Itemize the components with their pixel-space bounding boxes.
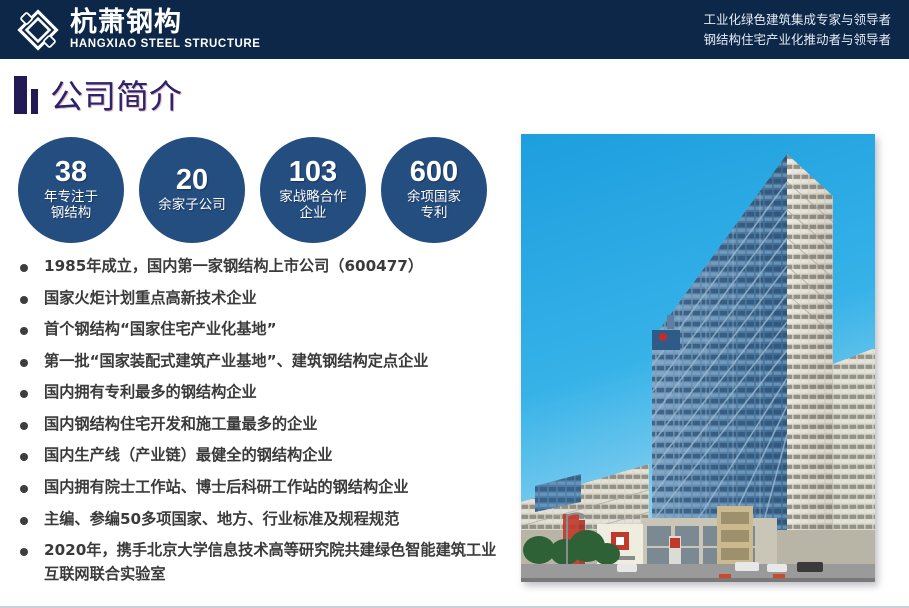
list-item: 2020年，携手北京大学信息技术高等研究院共建绿色智能建筑工业互联网联合实验室 — [20, 539, 510, 586]
tagline-line-1: 工业化绿色建筑集成专家与领导者 — [703, 10, 891, 29]
stat-number: 103 — [289, 158, 337, 187]
stat-label: 余家子公司 — [158, 198, 226, 214]
list-item-label: 2020年，携手北京大学信息技术高等研究院共建绿色智能建筑工业互联网联合实验室 — [44, 539, 510, 586]
list-item: 国内生产线（产业链）最健全的钢结构企业 — [20, 444, 510, 468]
office-tower-photograph — [521, 134, 875, 582]
stat-number: 20 — [176, 166, 208, 195]
brand-name-cn: 杭萧钢构 — [70, 9, 261, 36]
list-item: 国内拥有院士工作站、博士后科研工作站的钢结构企业 — [20, 476, 510, 500]
list-item-label: 国家火炬计划重点高新技术企业 — [44, 287, 257, 311]
list-item: 主编、参编50多项国家、地方、行业标准及规程规范 — [20, 508, 510, 532]
list-item-label: 主编、参编50多项国家、地方、行业标准及规程规范 — [44, 508, 399, 532]
bullet-dot-icon — [20, 390, 28, 398]
section-title-row: 公司简介 — [14, 76, 182, 114]
stat-label: 余项国家 专利 — [407, 190, 461, 221]
bullet-dot-icon — [20, 517, 28, 525]
stat-circle: 103 家战略合作 企业 — [260, 137, 366, 243]
company-highlights-list: 1985年成立，国内第一家钢结构上市公司（600477） 国家火炬计划重点高新技… — [20, 255, 510, 594]
page-title: 公司简介 — [50, 80, 182, 113]
interlocking-diamond-logo-icon — [16, 8, 60, 52]
stat-circle-group: 38 年专注于 钢结构 20 余家子公司 103 家战略合作 企业 600 余项… — [18, 137, 487, 243]
bullet-dot-icon — [20, 485, 28, 493]
bullet-dot-icon — [20, 422, 28, 430]
title-accent-bar-small — [31, 89, 38, 114]
page-header: 杭萧钢构 HANGXIAO STEEL STRUCTURE 工业化绿色建筑集成专… — [0, 0, 909, 59]
tagline-line-2: 钢结构住宅产业化推动者与领导者 — [703, 30, 891, 49]
bullet-dot-icon — [20, 296, 28, 304]
stat-label: 家战略合作 企业 — [279, 190, 347, 221]
stat-number: 38 — [55, 158, 87, 187]
list-item: 第一批“国家装配式建筑产业基地”、建筑钢结构定点企业 — [20, 350, 510, 374]
list-item: 国内拥有专利最多的钢结构企业 — [20, 381, 510, 405]
stat-circle: 38 年专注于 钢结构 — [18, 137, 124, 243]
bullet-dot-icon — [20, 327, 28, 335]
stat-circle: 20 余家子公司 — [139, 137, 245, 243]
brand-text: 杭萧钢构 HANGXIAO STEEL STRUCTURE — [70, 9, 261, 51]
brand-name-en: HANGXIAO STEEL STRUCTURE — [70, 38, 261, 51]
bullet-dot-icon — [20, 359, 28, 367]
list-item-label: 首个钢结构“国家住宅产业化基地” — [44, 318, 277, 342]
bullet-dot-icon — [20, 453, 28, 461]
stat-number: 600 — [410, 158, 458, 187]
list-item: 1985年成立，国内第一家钢结构上市公司（600477） — [20, 255, 510, 279]
header-tagline: 工业化绿色建筑集成专家与领导者 钢结构住宅产业化推动者与领导者 — [703, 10, 909, 49]
brand-block: 杭萧钢构 HANGXIAO STEEL STRUCTURE — [0, 8, 261, 52]
bullet-dot-icon — [20, 264, 28, 272]
list-item: 国家火炬计划重点高新技术企业 — [20, 287, 510, 311]
list-item-label: 国内拥有院士工作站、博士后科研工作站的钢结构企业 — [44, 476, 409, 500]
list-item: 国内钢结构住宅开发和施工量最多的企业 — [20, 413, 510, 437]
stat-circle: 600 余项国家 专利 — [381, 137, 487, 243]
list-item-label: 国内钢结构住宅开发和施工量最多的企业 — [44, 413, 317, 437]
list-item-label: 国内生产线（产业链）最健全的钢结构企业 — [44, 444, 333, 468]
list-item-label: 国内拥有专利最多的钢结构企业 — [44, 381, 257, 405]
stat-label: 年专注于 钢结构 — [44, 190, 98, 221]
title-accent-bar-large — [14, 76, 27, 114]
list-item-label: 1985年成立，国内第一家钢结构上市公司（600477） — [44, 255, 423, 279]
list-item: 首个钢结构“国家住宅产业化基地” — [20, 318, 510, 342]
bullet-dot-icon — [20, 548, 28, 556]
list-item-label: 第一批“国家装配式建筑产业基地”、建筑钢结构定点企业 — [44, 350, 428, 374]
